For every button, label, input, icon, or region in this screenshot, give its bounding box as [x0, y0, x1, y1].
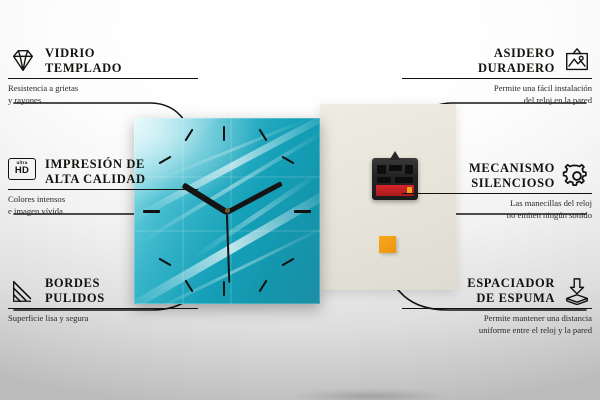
feature-asidero-duradero: ASIDERO DURADERO Permite una fácil insta… — [402, 46, 592, 106]
clock-tick — [258, 280, 267, 293]
product-shadow — [258, 388, 484, 400]
feature-title: ESPACIADOR DE ESPUMA — [467, 276, 555, 305]
clock-tick — [294, 210, 311, 213]
infographic-canvas: VIDRIO TEMPLADO Resistencia a grietas y … — [0, 0, 600, 400]
clock-tick — [281, 258, 294, 267]
clock-tick — [223, 126, 225, 141]
feature-description: Permite una fácil instalación del reloj … — [402, 83, 592, 106]
feature-title: VIDRIO TEMPLADO — [45, 46, 122, 75]
divider — [8, 189, 198, 190]
divider — [402, 193, 592, 194]
foam-spacer-arrow-icon — [562, 277, 592, 305]
divider — [402, 308, 592, 309]
diamond-icon — [8, 47, 38, 75]
divider — [402, 78, 592, 79]
feature-description: Permite mantener una distancia uniforme … — [402, 313, 592, 336]
feature-description: Superficie lisa y segura — [8, 313, 198, 325]
foam-spacer — [379, 236, 396, 253]
feature-description: Colores intensos e imagen vívida — [8, 194, 198, 217]
feature-title: ASIDERO DURADERO — [478, 46, 555, 75]
divider — [8, 78, 198, 79]
feature-description: Las manecillas del reloj no emiten ningú… — [402, 198, 592, 221]
gear-icon — [562, 162, 592, 190]
feature-title: BORDES PULIDOS — [45, 276, 105, 305]
clock-tick — [223, 281, 225, 296]
clock-tick — [184, 129, 193, 142]
polished-edges-icon — [8, 277, 38, 305]
ultra-hd-badge-icon: ultra HD — [8, 158, 38, 186]
feature-espaciador-de-espuma: ESPACIADOR DE ESPUMA Permite mantener un… — [402, 276, 592, 336]
feature-mecanismo-silencioso: MECANISMO SILENCIOSO Las manecillas del … — [402, 161, 592, 221]
feature-bordes-pulidos: BORDES PULIDOS Superficie lisa y segura — [8, 276, 198, 325]
hanging-picture-frame-icon — [562, 47, 592, 75]
clock-center-pin — [225, 208, 230, 213]
feature-description: Resistencia a grietas y rayones — [8, 83, 198, 106]
feature-vidrio-templado: VIDRIO TEMPLADO Resistencia a grietas y … — [8, 46, 198, 106]
divider — [8, 308, 198, 309]
feature-impresion-alta-calidad: ultra HD IMPRESIÓN DE ALTA CALIDAD Color… — [8, 157, 198, 217]
clock-tick — [281, 156, 294, 165]
clock-tick — [158, 258, 171, 267]
feature-title: IMPRESIÓN DE ALTA CALIDAD — [45, 157, 146, 186]
feature-title: MECANISMO SILENCIOSO — [469, 161, 555, 190]
